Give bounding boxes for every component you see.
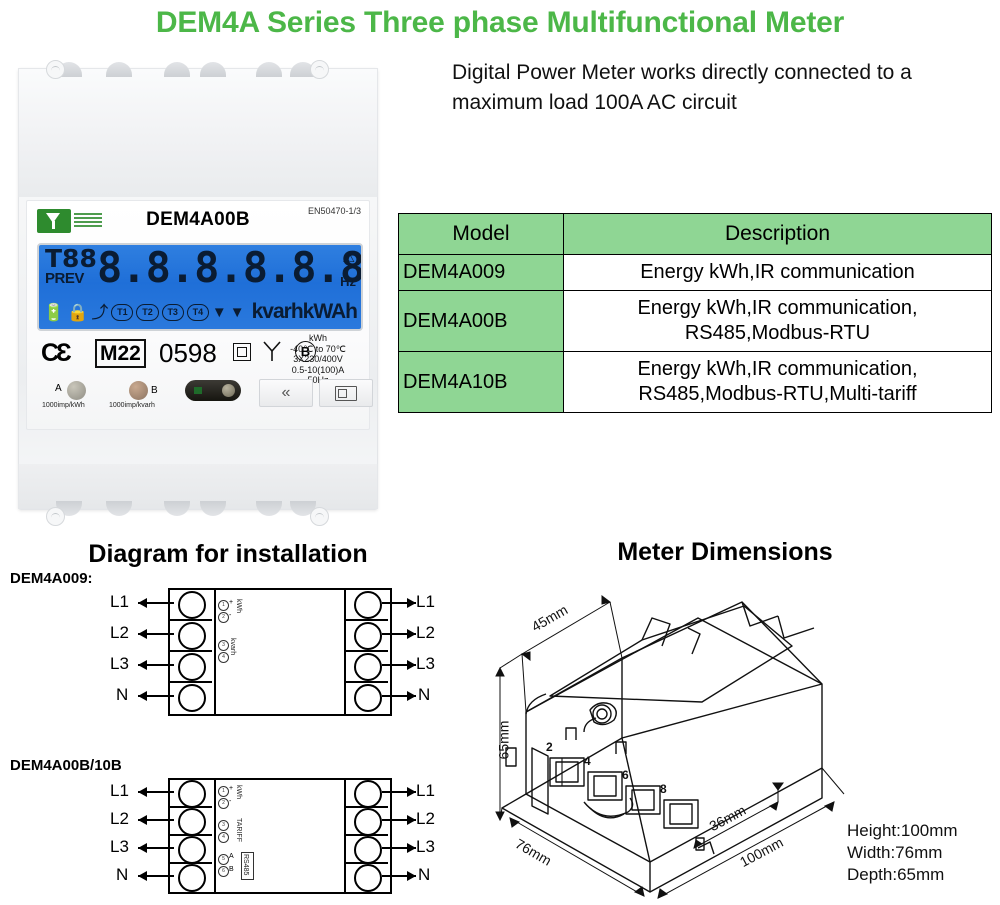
diagram-section-heading: Diagram for installation: [28, 540, 428, 569]
sealing-screw-hole: [46, 507, 65, 526]
pulse-output-port: 1: [218, 786, 229, 797]
battery-icon: 🔋: [43, 304, 64, 321]
terminal-separator: [168, 619, 212, 621]
notified-body-number: 0598: [159, 338, 217, 369]
terminal-hole: [178, 864, 206, 892]
terminal-label-left-l2: L2: [110, 623, 129, 643]
wire-arrow-left: [138, 633, 174, 635]
table-row: DEM4A10B Energy kWh,IR communication,RS4…: [399, 352, 992, 413]
pulse-output-port: 4: [218, 652, 229, 663]
cell-description: Energy kWh,IR communication,RS485,Modbus…: [564, 352, 992, 413]
lock-icon: 🔒: [67, 304, 88, 321]
port-number-label: 2: [546, 740, 553, 754]
housing-tab: [256, 501, 282, 516]
rs485-label: RS485: [242, 854, 249, 875]
table-row: DEM4A009 Energy kWh,IR communication: [399, 255, 992, 291]
wiring-diagram-dem4a00b-10b: L1 L2 L3 N L1 L2 L3 N 1 2 + - kWh 3 4 TA…: [110, 778, 440, 898]
sealing-screw-hole: [310, 60, 329, 79]
wire-arrow-right: [382, 847, 416, 849]
lcd-display: T88 PREV 8.8.8.8.8.8.8.8 ⚠ Hz 🔋 🔒 ⤴ T1 T…: [37, 243, 363, 331]
summary-width: Width:76mm: [847, 842, 958, 864]
wire-arrow-left: [138, 847, 174, 849]
rating-line: -40℃ to 70℃: [279, 344, 357, 355]
column-header-model: Model: [399, 214, 564, 255]
pulse-led-a-icon: [67, 381, 86, 400]
meter-top-terminal-cover: [18, 68, 378, 197]
port-sign-b: B: [229, 866, 234, 873]
terminal-hole: [178, 653, 206, 681]
terminal-label-left-n: N: [116, 685, 128, 705]
meter-ratings-block: kWh -40℃ to 70℃ 3X230/400V 0.5-10(100)A …: [279, 333, 357, 386]
housing-tab: [164, 501, 190, 516]
terminal-hole: [354, 864, 382, 892]
led-a-label: A: [55, 383, 62, 394]
table-row: DEM4A00B Energy kWh,IR communication,RS4…: [399, 291, 992, 352]
led-b-label: B: [151, 385, 158, 396]
meter-standard-label: EN50470-1/3: [308, 206, 361, 216]
meter-product-photo: DEM4A00B EN50470-1/3 T88 PREV 8.8.8.8.8.…: [8, 60, 386, 522]
wire-arrow-left: [138, 602, 174, 604]
ir-communication-port-icon: [185, 380, 241, 401]
terminal-hole: [354, 684, 382, 712]
terminal-label-left-n: N: [116, 865, 128, 885]
terminal-label-left-l3: L3: [110, 654, 129, 674]
led-b-imp-label: 1000imp/kvarh: [109, 402, 155, 409]
meter-front-panel: DEM4A00B EN50470-1/3 T88 PREV 8.8.8.8.8.…: [26, 200, 370, 430]
meter-dimensions-drawing: 45mm 65mm 76mm 36mm 100mm 2 4 6 8 Height…: [492, 562, 1000, 900]
wire-arrow-left: [138, 664, 174, 666]
diagram-first-model-label: DEM4A009:: [10, 570, 93, 587]
terminal-label-right-n: N: [418, 865, 430, 885]
wire-arrow-right: [382, 633, 416, 635]
terminal-hole: [354, 653, 382, 681]
cell-model: DEM4A00B: [399, 291, 564, 352]
terminal-hole: [178, 836, 206, 864]
m-year-mark: M22: [95, 339, 146, 368]
terminal-separator: [344, 681, 388, 683]
pulse-led-b-icon: [129, 381, 148, 400]
terminal-label-right-l1: L1: [416, 592, 435, 612]
summary-depth: Depth:65mm: [847, 864, 958, 886]
cell-description: Energy kWh,IR communication: [564, 255, 992, 291]
lcd-t3-indicator: T3: [162, 304, 184, 321]
meter-certification-row: CƐ M22 0598 B kWh -40℃ to 70℃ 3X230/400V…: [37, 333, 359, 375]
summary-height: Height:100mm: [847, 820, 958, 842]
tariff-input-port: 4: [218, 832, 229, 843]
terminal-hole: [178, 591, 206, 619]
diagram-second-model-label: DEM4A00B/10B: [10, 757, 122, 774]
port-number-label: 8: [660, 782, 667, 796]
terminal-label-right-l2: L2: [416, 623, 435, 643]
lcd-units-label: kvarhkWAh: [252, 300, 357, 324]
model-description-table: Model Description DEM4A009 Energy kWh,IR…: [398, 213, 992, 413]
terminal-hole: [354, 591, 382, 619]
wire-arrow-right: [382, 602, 416, 604]
housing-tab: [200, 501, 226, 516]
pulse-output-label-kwh: kWh: [235, 785, 242, 799]
port-number-label: 4: [584, 754, 591, 768]
lcd-hz-label: Hz: [340, 274, 356, 289]
wiring-diagram-dem4a009: L1 L2 L3 N L1 L2 L3 N 1 2 + - kWh 3 4 kv…: [110, 588, 440, 718]
cell-model: DEM4A009: [399, 255, 564, 291]
led-a-imp-label: 1000imp/kWh: [42, 402, 85, 409]
wire-arrow-left: [138, 695, 174, 697]
terminal-hole: [178, 808, 206, 836]
rs485-port: 5: [218, 854, 229, 865]
rs485-port: 6: [218, 866, 229, 877]
terminal-label-right-l3: L3: [416, 654, 435, 674]
port-sign-a: A: [229, 853, 234, 860]
terminal-separator: [168, 681, 212, 683]
port-sign-minus: -: [229, 798, 231, 805]
terminal-label-left-l2: L2: [110, 809, 129, 829]
terminal-label-left-l1: L1: [110, 781, 129, 801]
housing-tab: [200, 62, 226, 77]
display-select-button[interactable]: [319, 379, 373, 407]
dimension-label-height-left: 65mm: [495, 721, 511, 760]
terminal-label-right-l1: L1: [416, 781, 435, 801]
terminal-hole: [354, 808, 382, 836]
rating-line: 0.5-10(100)A: [279, 365, 357, 376]
display-icon: [335, 386, 357, 401]
tariff-input-port: 3: [218, 820, 229, 831]
wire-arrow-right: [382, 875, 416, 877]
terminal-label-left-l3: L3: [110, 837, 129, 857]
table-header-row: Model Description: [399, 214, 992, 255]
sealing-screw-hole: [46, 60, 65, 79]
port-number-label: 6: [622, 768, 629, 782]
pulse-output-port: 3: [218, 640, 229, 651]
lcd-indicator-row: 🔋 🔒 ⤴ T1 T2 T3 T4 ▼ ▼ kvarhkWAh: [43, 297, 357, 327]
wire-arrow-right: [382, 819, 416, 821]
cell-description: Energy kWh,IR communication,RS485,Modbus…: [564, 291, 992, 352]
meter-led-button-row: A 1000imp/kWh B 1000imp/kvarh «: [37, 379, 359, 421]
terminal-separator: [344, 619, 388, 621]
down-triangle-icon: ▼: [230, 305, 245, 320]
terminal-label-right-l2: L2: [416, 809, 435, 829]
terminal-hole: [354, 780, 382, 808]
pulse-output-port: 2: [218, 612, 229, 623]
ce-mark-icon: CƐ: [41, 339, 69, 368]
wire-arrow-right: [382, 664, 416, 666]
down-triangle-icon: ▼: [212, 305, 227, 320]
pulse-output-label-kwh: kWh: [235, 599, 242, 613]
lcd-digit-field: 8.8.8.8.8.8.8.8: [97, 246, 363, 290]
lcd-prev-label: PREV: [45, 271, 84, 286]
housing-tab: [256, 62, 282, 77]
wire-arrow-left: [138, 875, 174, 877]
housing-tab: [106, 62, 132, 77]
terminal-separator: [168, 650, 212, 652]
signal-arc-icon: ⤴: [91, 304, 108, 321]
tariff-input-label: TARIFF: [235, 818, 242, 842]
rating-line: 3X230/400V: [279, 354, 357, 365]
port-sign-plus: +: [229, 599, 233, 606]
lcd-t2-indicator: T2: [136, 304, 158, 321]
housing-tab: [164, 62, 190, 77]
terminal-label-right-n: N: [418, 685, 430, 705]
wire-arrow-left: [138, 791, 174, 793]
wire-arrow-right: [382, 695, 416, 697]
port-sign-plus: +: [229, 785, 233, 792]
wire-arrow-right: [382, 791, 416, 793]
dimensions-summary: Height:100mm Width:76mm Depth:65mm: [847, 820, 958, 886]
terminal-separator: [344, 650, 388, 652]
terminal-hole: [354, 622, 382, 650]
sealing-screw-hole: [310, 507, 329, 526]
column-header-description: Description: [564, 214, 992, 255]
lcd-t4-indicator: T4: [187, 304, 209, 321]
lcd-tariff-field: T88: [45, 247, 97, 271]
terminal-label-right-l3: L3: [416, 837, 435, 857]
housing-tab: [106, 501, 132, 516]
scroll-back-button[interactable]: «: [259, 379, 313, 407]
rating-line: kWh: [279, 333, 357, 344]
pulse-output-port: 2: [218, 798, 229, 809]
pulse-output-label-kvarh: kvarh: [229, 638, 236, 655]
terminal-hole: [178, 684, 206, 712]
rs485-label-box: RS485: [241, 852, 254, 880]
page-title: DEM4A Series Three phase Multifunctional…: [0, 6, 1000, 40]
wire-arrow-left: [138, 819, 174, 821]
terminal-hole: [178, 622, 206, 650]
lcd-t1-indicator: T1: [111, 304, 133, 321]
pulse-output-port: 1: [218, 600, 229, 611]
terminal-hole: [178, 780, 206, 808]
terminal-label-left-l1: L1: [110, 592, 129, 612]
intro-paragraph: Digital Power Meter works directly conne…: [452, 58, 992, 118]
terminal-hole: [354, 836, 382, 864]
warning-triangle-icon: ⚠: [342, 250, 355, 264]
double-insulation-icon: [233, 343, 251, 361]
cell-model: DEM4A10B: [399, 352, 564, 413]
port-sign-minus: -: [229, 612, 231, 619]
